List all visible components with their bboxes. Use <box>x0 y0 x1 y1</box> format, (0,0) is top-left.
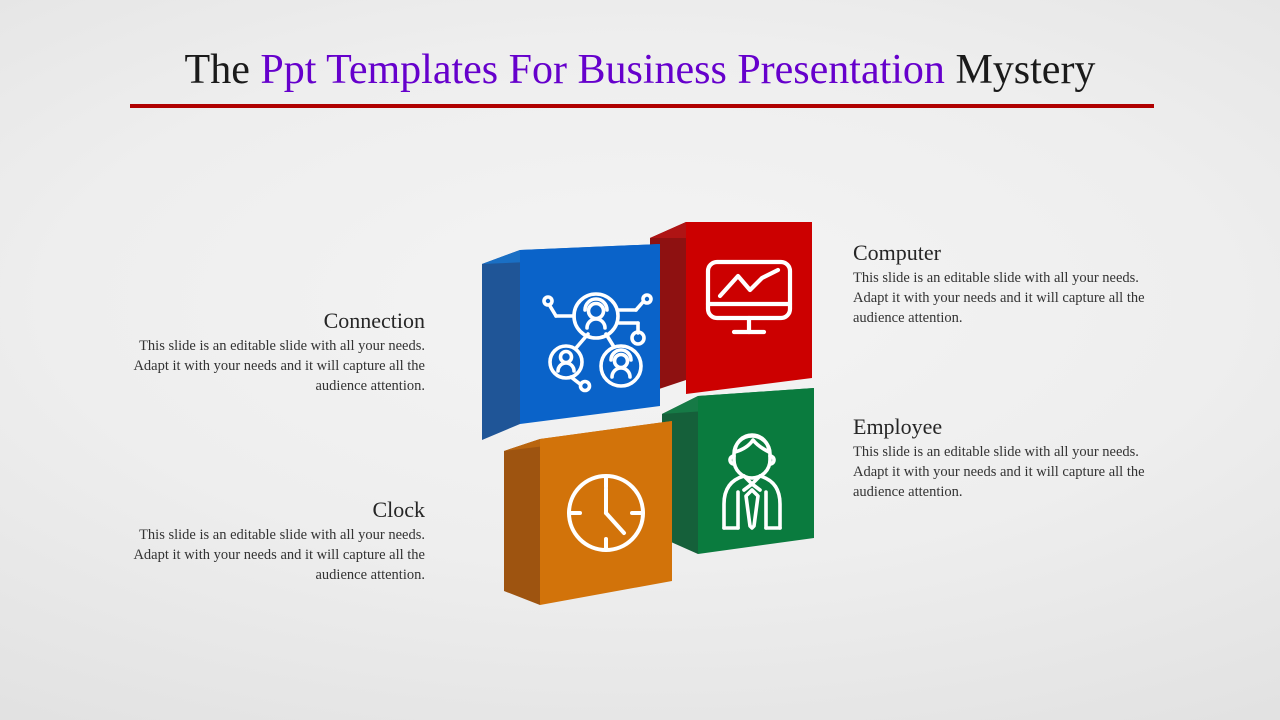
block-title-clock: Clock <box>110 497 425 523</box>
text-block-connection: Connection This slide is an editable sli… <box>110 308 425 396</box>
cube-clock[interactable] <box>500 413 700 618</box>
text-block-clock: Clock This slide is an editable slide wi… <box>110 497 425 585</box>
title-accent: Ppt Templates For Business Presentation <box>260 47 945 93</box>
cube-orange-side <box>504 439 540 605</box>
block-title-employee: Employee <box>853 414 1168 440</box>
title-block: The Ppt Templates For Business Presentat… <box>0 46 1280 94</box>
text-block-employee: Employee This slide is an editable slide… <box>853 414 1168 502</box>
cube-green-face <box>698 388 814 554</box>
cube-cluster-graphic <box>470 208 850 628</box>
block-title-computer: Computer <box>853 240 1168 266</box>
page-title: The Ppt Templates For Business Presentat… <box>0 46 1280 94</box>
cube-red-face <box>686 222 812 394</box>
title-trail: Mystery <box>945 47 1096 93</box>
block-title-connection: Connection <box>110 308 425 334</box>
clock-icon <box>569 476 643 550</box>
title-underline-rule <box>130 104 1154 108</box>
title-lead: The <box>185 47 261 93</box>
cube-blue-side <box>482 250 520 440</box>
block-body-employee: This slide is an editable slide with all… <box>853 442 1168 502</box>
block-body-connection: This slide is an editable slide with all… <box>110 336 425 396</box>
block-body-computer: This slide is an editable slide with all… <box>853 268 1168 328</box>
text-block-computer: Computer This slide is an editable slide… <box>853 240 1168 328</box>
block-body-clock: This slide is an editable slide with all… <box>110 525 425 585</box>
presentation-slide: The Ppt Templates For Business Presentat… <box>0 0 1280 720</box>
